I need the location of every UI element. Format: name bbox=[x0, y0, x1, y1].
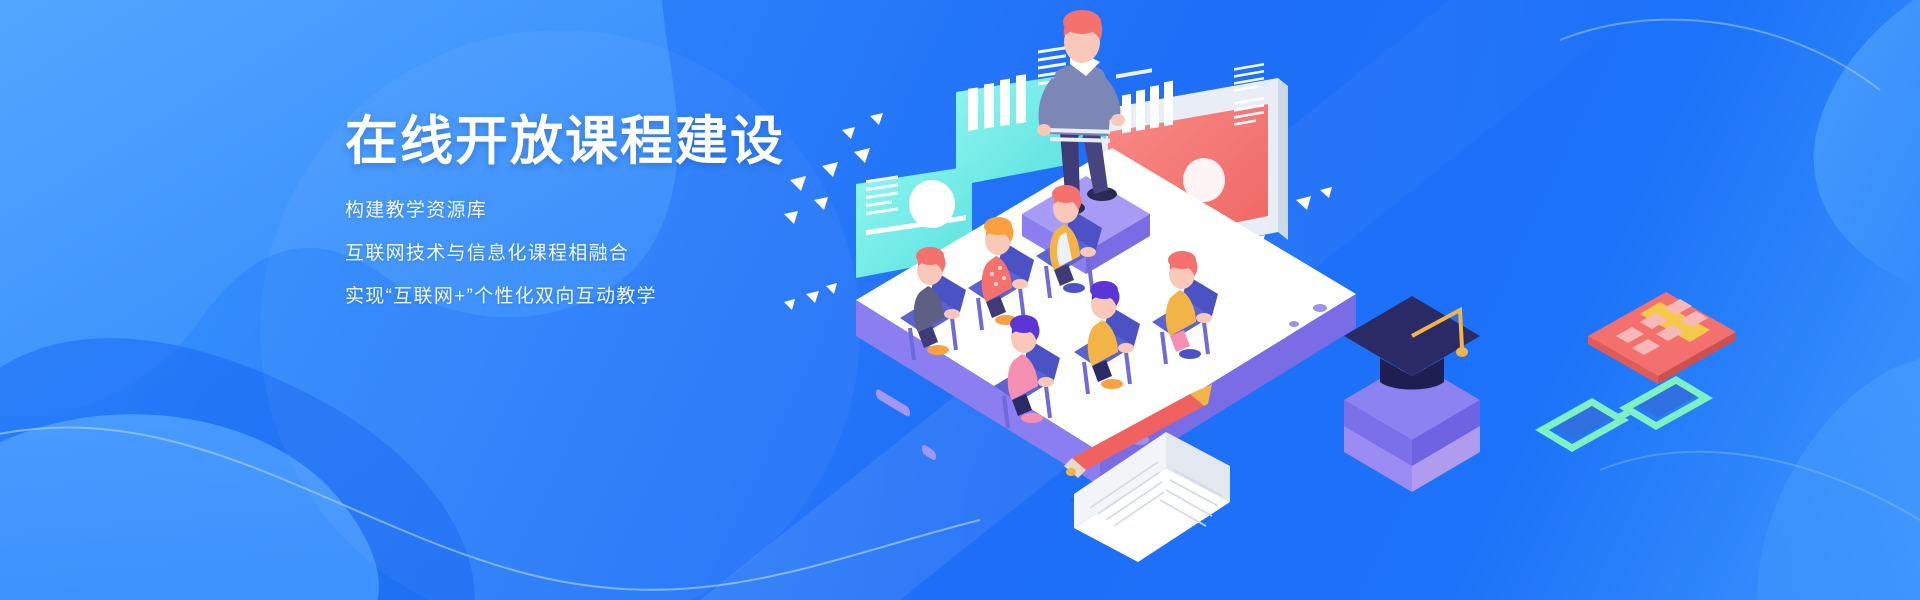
hero-subtitle-list: 构建教学资源库 互联网技术与信息化课程相融合 实现“互联网+”个性化双向互动教学 bbox=[345, 201, 985, 306]
hero-banner: 在线开放课程建设 构建教学资源库 互联网技术与信息化课程相融合 实现“互联网+”… bbox=[0, 0, 1920, 600]
calculator-icon bbox=[1588, 292, 1736, 384]
page-title: 在线开放课程建设 bbox=[345, 112, 985, 171]
hero-subtitle-line-3: 实现“互联网+”个性化双向互动教学 bbox=[345, 287, 985, 306]
hero-copy: 在线开放课程建设 构建教学资源库 互联网技术与信息化课程相融合 实现“互联网+”… bbox=[345, 112, 985, 306]
graduation-cap-icon bbox=[1344, 296, 1480, 390]
glasses-icon bbox=[1542, 380, 1706, 448]
hero-subtitle-line-1: 构建教学资源库 bbox=[345, 201, 985, 220]
hero-subtitle-line-2: 互联网技术与信息化课程相融合 bbox=[345, 244, 985, 263]
